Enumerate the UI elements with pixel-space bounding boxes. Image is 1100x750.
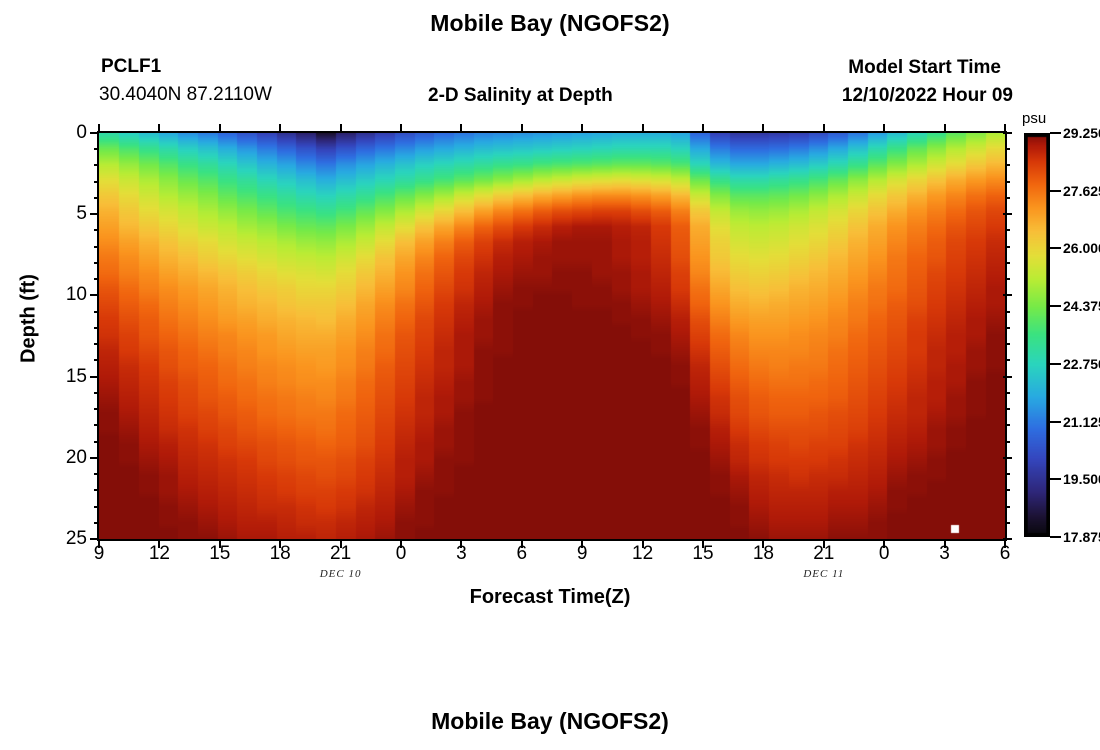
y-axis-tick-right xyxy=(1003,132,1012,134)
y-axis-minor-tick xyxy=(94,246,99,248)
y-axis-tick-right xyxy=(1005,164,1010,166)
chart-subtitle: 2-D Salinity at Depth xyxy=(428,85,613,107)
y-axis-minor-tick xyxy=(94,148,99,150)
station-coordinates: 30.4040N 87.2110W xyxy=(99,84,272,106)
y-axis-minor-tick xyxy=(94,343,99,345)
x-axis-tick-top xyxy=(400,124,402,133)
x-axis-tick-label: 3 xyxy=(925,543,965,565)
colorbar-tick-label: 27.625 xyxy=(1063,183,1100,199)
x-axis-day-label: DEC 10 xyxy=(296,568,386,580)
y-axis-tick-right xyxy=(1005,278,1010,280)
y-axis-tick-right xyxy=(1005,181,1010,183)
station-id: PCLF1 xyxy=(101,56,161,78)
y-axis-tick-label: 0 xyxy=(47,122,87,142)
y-axis-tick-right xyxy=(1005,197,1010,199)
y-axis-tick xyxy=(90,294,99,296)
x-axis-tick-top xyxy=(823,124,825,133)
y-axis-tick-right xyxy=(1005,424,1010,426)
y-axis-minor-tick xyxy=(94,506,99,508)
x-axis-tick-label: 15 xyxy=(200,543,240,565)
colorbar-tick-label: 19.500 xyxy=(1063,471,1100,487)
x-axis-tick-label: 12 xyxy=(139,543,179,565)
y-axis-minor-tick xyxy=(94,278,99,280)
y-axis-tick-right xyxy=(1003,376,1012,378)
x-axis-tick-top xyxy=(340,124,342,133)
y-axis-tick-right xyxy=(1005,506,1010,508)
y-axis-tick-right xyxy=(1005,229,1010,231)
x-axis-tick-top xyxy=(642,124,644,133)
x-axis-tick-label: 21 xyxy=(321,543,361,565)
y-axis-tick-right xyxy=(1005,522,1010,524)
y-axis-minor-tick xyxy=(94,164,99,166)
y-axis-minor-tick xyxy=(94,359,99,361)
y-axis-minor-tick xyxy=(94,229,99,231)
colorbar-tick xyxy=(1050,247,1061,249)
y-axis-tick-label: 15 xyxy=(47,366,87,386)
y-axis-minor-tick xyxy=(94,392,99,394)
y-axis-tick-right xyxy=(1005,327,1010,329)
colorbar-canvas xyxy=(1024,133,1050,537)
y-axis-minor-tick xyxy=(94,311,99,313)
x-axis-tick-top xyxy=(702,124,704,133)
salinity-heatmap-plot xyxy=(97,131,1007,541)
y-axis-tick-right xyxy=(1005,343,1010,345)
y-axis-minor-tick xyxy=(94,522,99,524)
x-axis-tick-top xyxy=(460,124,462,133)
x-axis-tick-label: 6 xyxy=(985,543,1025,565)
y-axis-tick-right xyxy=(1005,359,1010,361)
x-axis-tick-top xyxy=(521,124,523,133)
y-axis-minor-tick xyxy=(94,424,99,426)
x-axis-tick-top xyxy=(581,124,583,133)
chart-page: Mobile Bay (NGOFS2) PCLF1 30.4040N 87.21… xyxy=(0,0,1100,750)
bottom-title: Mobile Bay (NGOFS2) xyxy=(0,708,1100,735)
y-axis-tick-right xyxy=(1003,538,1012,540)
y-axis-minor-tick xyxy=(94,473,99,475)
y-axis-title: Depth (ft) xyxy=(18,259,41,379)
y-axis-tick-right xyxy=(1005,408,1010,410)
colorbar-tick-label: 26.000 xyxy=(1063,240,1100,256)
y-axis-tick-right xyxy=(1003,213,1012,215)
y-axis-minor-tick xyxy=(94,489,99,491)
page-title: Mobile Bay (NGOFS2) xyxy=(0,10,1100,37)
y-axis-minor-tick xyxy=(94,327,99,329)
y-axis-tick-right xyxy=(1005,246,1010,248)
x-axis-tick-top xyxy=(762,124,764,133)
y-axis-minor-tick xyxy=(94,408,99,410)
x-axis-tick-top xyxy=(883,124,885,133)
colorbar-tick-label: 29.250 xyxy=(1063,125,1100,141)
x-axis-tick-label: 0 xyxy=(381,543,421,565)
y-axis-tick-label: 10 xyxy=(47,284,87,304)
y-axis-tick xyxy=(90,376,99,378)
x-axis-day-label: DEC 11 xyxy=(779,568,869,580)
x-axis-tick-top xyxy=(158,124,160,133)
x-axis-tick-label: 3 xyxy=(441,543,481,565)
y-axis-tick xyxy=(90,457,99,459)
colorbar-tick xyxy=(1050,305,1061,307)
colorbar xyxy=(1024,133,1050,537)
y-axis-minor-tick xyxy=(94,181,99,183)
colorbar-unit-label: psu xyxy=(1022,110,1046,127)
colorbar-tick xyxy=(1050,421,1061,423)
x-axis-tick-label: 18 xyxy=(260,543,300,565)
y-axis-tick-right xyxy=(1005,262,1010,264)
colorbar-tick xyxy=(1050,190,1061,192)
x-axis-tick-label: 6 xyxy=(502,543,542,565)
y-axis-tick xyxy=(90,213,99,215)
model-start-time-label: Model Start Time xyxy=(848,57,1001,79)
x-axis-tick-label: 15 xyxy=(683,543,723,565)
x-axis-tick-top xyxy=(219,124,221,133)
x-axis-tick-label: 18 xyxy=(743,543,783,565)
y-axis-tick-label: 5 xyxy=(47,203,87,223)
colorbar-tick-label: 17.875 xyxy=(1063,529,1100,545)
y-axis-minor-tick xyxy=(94,262,99,264)
x-axis-tick-top xyxy=(279,124,281,133)
x-axis-tick-top xyxy=(944,124,946,133)
y-axis-minor-tick xyxy=(94,441,99,443)
y-axis-tick-label: 20 xyxy=(47,447,87,467)
colorbar-tick-label: 24.375 xyxy=(1063,298,1100,314)
x-axis-tick-label: 0 xyxy=(864,543,904,565)
y-axis-tick-right xyxy=(1003,457,1012,459)
y-axis-tick-right xyxy=(1005,311,1010,313)
y-axis-tick xyxy=(90,538,99,540)
x-axis-tick-label: 21 xyxy=(804,543,844,565)
colorbar-tick-label: 22.750 xyxy=(1063,356,1100,372)
x-axis-title: Forecast Time(Z) xyxy=(0,586,1100,609)
y-axis-tick-label: 25 xyxy=(47,528,87,548)
x-axis-tick-label: 12 xyxy=(623,543,663,565)
model-start-time-value: 12/10/2022 Hour 09 xyxy=(842,85,1013,107)
y-axis-tick-right xyxy=(1005,441,1010,443)
colorbar-tick xyxy=(1050,132,1061,134)
y-axis-tick-right xyxy=(1005,392,1010,394)
heatmap-canvas xyxy=(99,133,1005,539)
y-axis-tick-right xyxy=(1005,148,1010,150)
y-axis-tick xyxy=(90,132,99,134)
y-axis-tick-right xyxy=(1005,489,1010,491)
colorbar-tick xyxy=(1050,478,1061,480)
colorbar-tick xyxy=(1050,363,1061,365)
colorbar-tick xyxy=(1050,536,1061,538)
y-axis-tick-right xyxy=(1003,294,1012,296)
x-axis-tick-label: 9 xyxy=(562,543,602,565)
y-axis-minor-tick xyxy=(94,197,99,199)
colorbar-tick-label: 21.125 xyxy=(1063,414,1100,430)
y-axis-tick-right xyxy=(1005,473,1010,475)
